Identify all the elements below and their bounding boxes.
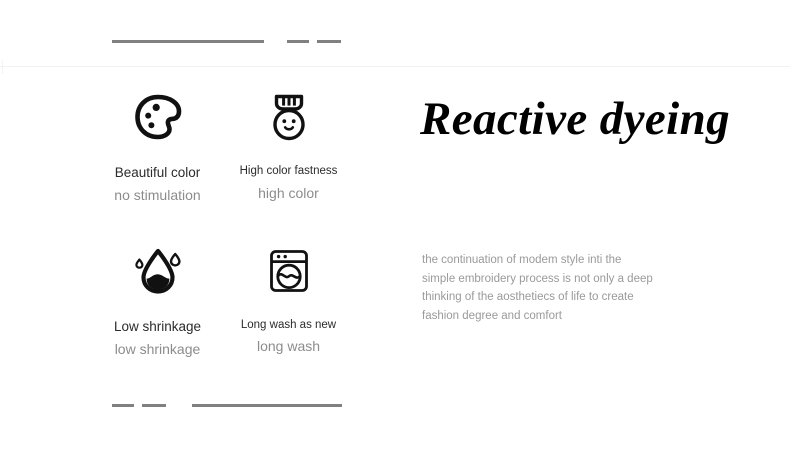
feature-title: Beautiful color [115,165,201,181]
divider-segment-short [287,40,309,43]
feature-title: Low shrinkage [114,319,201,335]
feature-title: Long wash as new [241,319,336,333]
medal-smiley-icon [264,86,314,148]
divider-segment-long [112,40,264,43]
divider-segment-short [317,40,341,43]
page-root: Beautiful color no stimulation [0,0,790,454]
feature-row: Beautiful color no stimulation [92,86,354,204]
feature-title: High color fastness [240,165,338,179]
top-hairline-divider [0,66,790,67]
feature-subtitle: high color [258,185,319,202]
bottom-divider [112,404,342,407]
feature-subtitle: no stimulation [114,187,200,204]
left-edge-hairline [2,60,3,74]
divider-segment-short [112,404,134,407]
feature-item-low-shrinkage[interactable]: Low shrinkage low shrinkage [92,240,223,358]
palette-icon [132,86,184,148]
feature-row: Low shrinkage low shrinkage Long wash as… [92,240,354,358]
water-drop-icon [131,240,185,302]
feature-item-long-wash-as-new[interactable]: Long wash as new long wash [223,240,354,358]
divider-segment-short [142,404,166,407]
body-paragraph: the continuation of modem style inti the… [422,251,654,326]
washing-machine-icon [264,240,314,302]
feature-subtitle: long wash [257,338,320,355]
top-divider [112,40,341,43]
feature-item-beautiful-color[interactable]: Beautiful color no stimulation [92,86,223,204]
feature-item-high-color-fastness[interactable]: High color fastness high color [223,86,354,204]
feature-row-gap [92,204,354,240]
feature-grid: Beautiful color no stimulation [92,86,354,357]
page-title: Reactive dyeing [420,92,730,146]
divider-segment-long [192,404,342,407]
feature-subtitle: low shrinkage [115,341,201,358]
